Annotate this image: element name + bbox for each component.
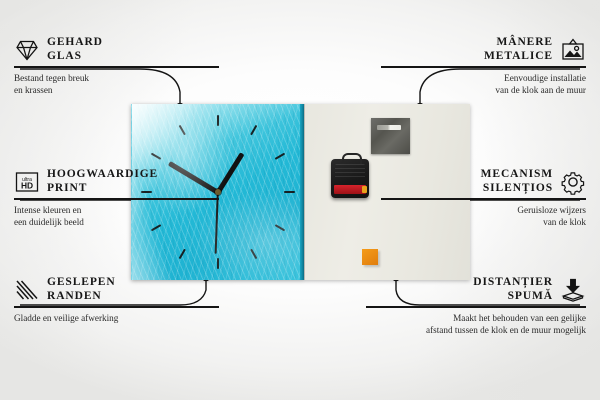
divider: [381, 198, 586, 199]
battery: [334, 185, 366, 194]
feature-title: GESLEPEN RANDEN: [47, 276, 116, 303]
feature-description: Eenvoudige installatie van de klok aan d…: [381, 72, 586, 96]
feature-description: Geruisloze wijzers van de klok: [381, 204, 586, 228]
feature-manere-metalice: MÂNERE METALICE Eenvoudige installatie v…: [381, 36, 586, 96]
hour-mark: [217, 115, 219, 126]
press-down-pad-icon: [560, 277, 586, 303]
divider: [14, 198, 219, 199]
divider: [366, 306, 586, 307]
feature-hoogwaardige-print: ultra HD HOOGWAARDIGE PRINT Intense kleu…: [14, 168, 219, 228]
battery-terminal: [362, 186, 367, 193]
foam-spacer: [362, 249, 378, 265]
feature-title: GEHARD GLAS: [47, 36, 103, 63]
svg-text:HD: HD: [21, 180, 33, 190]
hour-mark: [151, 153, 162, 160]
divider: [14, 66, 219, 67]
hour-mark: [217, 258, 219, 269]
feature-distantier-spuma: DISTANȚIER SPUMĂ Maakt het behouden van …: [366, 276, 586, 336]
feature-title: MÂNERE METALICE: [484, 36, 553, 63]
hour-mark: [179, 249, 186, 260]
mechanism-detail: [335, 164, 365, 180]
feature-description: Maakt het behouden van een gelijke afsta…: [366, 312, 586, 336]
feature-description: Bestand tegen breuk en krassen: [14, 72, 219, 96]
feature-geslepen-randen: GESLEPEN RANDEN Gladde en veilige afwerk…: [14, 276, 219, 324]
hour-mark: [250, 125, 257, 136]
feature-description: Gladde en veilige afwerking: [14, 312, 219, 324]
feature-gehard-glas: GEHARD GLAS Bestand tegen breuk en krass…: [14, 36, 219, 96]
feature-title: DISTANȚIER SPUMĂ: [473, 276, 553, 303]
framed-picture-hanger-icon: [560, 37, 586, 63]
gear-icon: [560, 169, 586, 195]
feature-title: MECANISM SILENȚIOS: [481, 168, 553, 195]
hour-mark: [284, 191, 295, 193]
hour-mark: [275, 224, 286, 231]
divider: [14, 306, 219, 307]
hour-mark: [179, 125, 186, 136]
hour-hand: [216, 152, 245, 194]
feature-title: HOOGWAARDIGE PRINT: [47, 168, 158, 195]
hour-mark: [275, 153, 286, 160]
hour-mark: [250, 249, 257, 260]
metal-hanger: [371, 118, 410, 154]
feature-mecanism-silentios: MECANISM SILENȚIOS Geruisloze wijzers va…: [381, 168, 586, 228]
ultra-hd-icon: ultra HD: [14, 169, 40, 195]
diagonal-lines-icon: [14, 277, 40, 303]
mechanism-loop: [342, 153, 362, 164]
feature-description: Intense kleuren en een duidelijk beeld: [14, 204, 219, 228]
infographic-canvas: GEHARD GLAS Bestand tegen breuk en krass…: [0, 0, 600, 400]
hanger-slot: [377, 125, 401, 130]
clock-mechanism: [331, 159, 369, 198]
divider: [381, 66, 586, 67]
diamond-icon: [14, 37, 40, 63]
